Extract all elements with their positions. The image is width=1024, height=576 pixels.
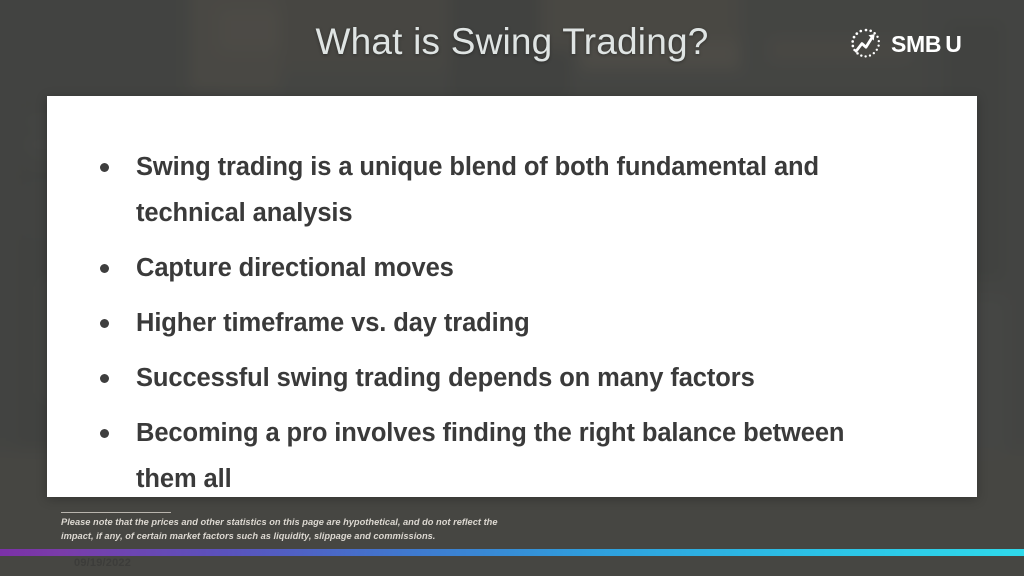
smbu-chart-circle-icon (848, 26, 884, 62)
list-item-label: Capture directional moves (136, 245, 896, 291)
list-item: Successful swing trading depends on many… (100, 355, 947, 401)
bullet-dot-icon (100, 374, 109, 383)
list-item: Higher timeframe vs. day trading (100, 300, 947, 346)
list-item-label: Swing trading is a unique blend of both … (136, 144, 896, 236)
content-card: Swing trading is a unique blend of both … (47, 96, 977, 497)
bottom-gradient-bar (0, 549, 1024, 556)
brand-logo-text-primary: SMB (891, 31, 941, 57)
list-item: Becoming a pro involves finding the righ… (100, 410, 947, 502)
bullet-dot-icon (100, 429, 109, 438)
disclaimer-line-2: impact, if any, of certain market factor… (61, 530, 531, 544)
footnote-divider (61, 512, 171, 513)
list-item: Swing trading is a unique blend of both … (100, 144, 947, 236)
bullet-dot-icon (100, 264, 109, 273)
bullet-dot-icon (100, 163, 109, 172)
list-item-label: Higher timeframe vs. day trading (136, 300, 896, 346)
slide-canvas: What is Swing Trading? (0, 0, 1024, 576)
bullet-dot-icon (100, 319, 109, 328)
disclaimer-text: Please note that the prices and other st… (61, 516, 531, 543)
brand-logo-text: SMBU (891, 31, 962, 58)
brand-logo: SMBU (848, 24, 978, 64)
list-item-label: Becoming a pro involves finding the righ… (136, 410, 896, 502)
bullet-list: Swing trading is a unique blend of both … (100, 144, 947, 511)
list-item: Capture directional moves (100, 245, 947, 291)
disclaimer-line-1: Please note that the prices and other st… (61, 516, 531, 530)
slide-date: 09/19/2022 (74, 557, 131, 569)
brand-logo-text-secondary: U (945, 31, 961, 57)
list-item-label: Successful swing trading depends on many… (136, 355, 896, 401)
